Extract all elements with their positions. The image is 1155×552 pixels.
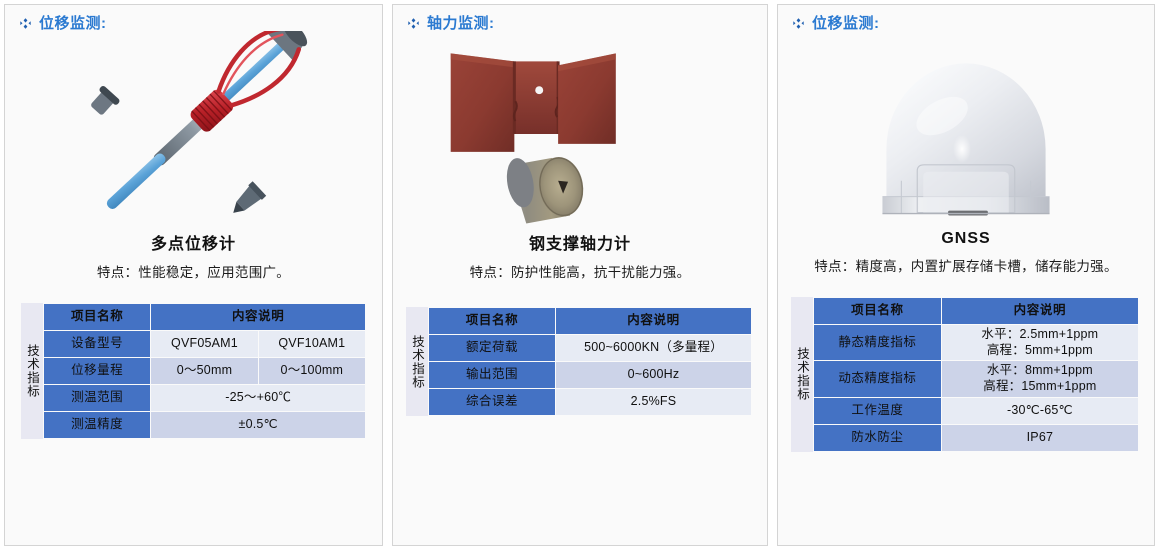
row-value: -30℃-65℃ bbox=[942, 398, 1138, 424]
table-row: 输出范围 0~600Hz bbox=[429, 362, 751, 388]
diamond-bullet-icon bbox=[19, 17, 32, 30]
row-value: 0～100mm bbox=[259, 358, 365, 384]
row-value-line: 高程：15mm+1ppm bbox=[944, 379, 1136, 395]
row-label: 输出范围 bbox=[429, 362, 555, 388]
row-label: 动态精度指标 bbox=[814, 361, 941, 396]
row-value-line: 水平：2.5mm+1ppm bbox=[944, 327, 1136, 343]
table-header-row: 项目名称 内容说明 bbox=[44, 304, 365, 330]
row-value: -25～+60℃ bbox=[151, 385, 365, 411]
row-label: 工作温度 bbox=[814, 398, 941, 424]
product-feature: 特点：精度高，内置扩展存储卡槽，储存能力强。 bbox=[778, 255, 1154, 275]
spec-side-label: 技术指标 bbox=[21, 303, 43, 439]
row-label: 额定荷载 bbox=[429, 335, 555, 361]
row-value-line: 高程：5mm+1ppm bbox=[944, 343, 1136, 359]
device-card-displacement-meter: 位移监测: bbox=[4, 4, 383, 546]
row-label: 设备型号 bbox=[44, 331, 150, 357]
table-row: 动态精度指标 水平：8mm+1ppm 高程：15mm+1ppm bbox=[814, 361, 1138, 396]
col-header-item-name: 项目名称 bbox=[429, 308, 555, 334]
spec-side-label: 技术指标 bbox=[406, 307, 428, 416]
row-value-line: 水平：8mm+1ppm bbox=[944, 363, 1136, 379]
col-header-description: 内容说明 bbox=[556, 308, 751, 334]
card-header-title: 位移监测: bbox=[812, 16, 880, 31]
table-row: 综合误差 2.5%FS bbox=[429, 389, 751, 415]
diamond-bullet-icon bbox=[407, 17, 420, 30]
product-title: GNSS bbox=[778, 230, 1154, 248]
table-row: 额定荷载 500~6000KN（多量程） bbox=[429, 335, 751, 361]
multipoint-displacement-meter-photo bbox=[5, 31, 382, 226]
spec-table: 项目名称 内容说明 静态精度指标 水平：2.5mm+1ppm 高程：5mm+1p… bbox=[813, 297, 1139, 452]
spec-side-label: 技术指标 bbox=[791, 297, 813, 452]
row-value: 水平：8mm+1ppm 高程：15mm+1ppm bbox=[942, 361, 1138, 396]
row-value: QVF05AM1 bbox=[151, 331, 257, 357]
row-label: 综合误差 bbox=[429, 389, 555, 415]
row-label: 测温精度 bbox=[44, 412, 150, 438]
row-value: 水平：2.5mm+1ppm 高程：5mm+1ppm bbox=[942, 325, 1138, 360]
table-row: 测温范围 -25～+60℃ bbox=[44, 385, 365, 411]
row-value: 500~6000KN（多量程） bbox=[556, 335, 751, 361]
table-row: 静态精度指标 水平：2.5mm+1ppm 高程：5mm+1ppm bbox=[814, 325, 1138, 360]
table-row: 测温精度 ±0.5℃ bbox=[44, 412, 365, 438]
row-label: 测温范围 bbox=[44, 385, 150, 411]
card-header: 位移监测: bbox=[5, 5, 382, 31]
card-header: 轴力监测: bbox=[393, 5, 767, 31]
row-label: 防水防尘 bbox=[814, 425, 941, 451]
product-feature: 特点：防护性能高，抗干扰能力强。 bbox=[393, 261, 767, 281]
product-title: 多点位移计 bbox=[5, 230, 382, 254]
device-card-gnss: 位移监测: bbox=[777, 4, 1155, 546]
card-header: 位移监测: bbox=[778, 5, 1154, 31]
card-header-title: 轴力监测: bbox=[427, 16, 495, 31]
row-value: ±0.5℃ bbox=[151, 412, 365, 438]
col-header-item-name: 项目名称 bbox=[44, 304, 150, 330]
table-row: 位移量程 0～50mm 0～100mm bbox=[44, 358, 365, 384]
col-header-description: 内容说明 bbox=[942, 298, 1138, 324]
row-value: IP67 bbox=[942, 425, 1138, 451]
spec-table-wrapper: 技术指标 项目名称 内容说明 静态精度指标 水平：2.5mm+1ppm 高程：5… bbox=[791, 297, 1139, 452]
row-value: 0~600Hz bbox=[556, 362, 751, 388]
product-title: 钢支撑轴力计 bbox=[393, 230, 767, 254]
product-feature: 特点：性能稳定，应用范围广。 bbox=[5, 261, 382, 281]
table-row: 工作温度 -30℃-65℃ bbox=[814, 398, 1138, 424]
row-label: 位移量程 bbox=[44, 358, 150, 384]
col-header-item-name: 项目名称 bbox=[814, 298, 941, 324]
spec-table-wrapper: 技术指标 项目名称 内容说明 额定荷载 500~6000KN（多量程） 输出范围… bbox=[406, 307, 752, 416]
spec-table-wrapper: 技术指标 项目名称 内容说明 设备型号 QVF05AM1 QVF10AM1 位移… bbox=[21, 303, 366, 439]
gnss-dome-antenna-photo bbox=[778, 31, 1154, 226]
spec-table: 项目名称 内容说明 设备型号 QVF05AM1 QVF10AM1 位移量程 0～… bbox=[43, 303, 366, 439]
row-value: 2.5%FS bbox=[556, 389, 751, 415]
table-header-row: 项目名称 内容说明 bbox=[814, 298, 1138, 324]
device-spec-board: 位移监测: bbox=[0, 0, 1155, 552]
diamond-bullet-icon bbox=[792, 17, 805, 30]
spec-table: 项目名称 内容说明 额定荷载 500~6000KN（多量程） 输出范围 0~60… bbox=[428, 307, 752, 416]
row-value: QVF10AM1 bbox=[259, 331, 365, 357]
col-header-description: 内容说明 bbox=[151, 304, 365, 330]
device-card-axial-force-meter: 轴力监测: bbox=[392, 4, 768, 546]
table-header-row: 项目名称 内容说明 bbox=[429, 308, 751, 334]
table-row: 设备型号 QVF05AM1 QVF10AM1 bbox=[44, 331, 365, 357]
steel-strut-axial-force-meter-photo bbox=[393, 31, 767, 226]
row-label: 静态精度指标 bbox=[814, 325, 941, 360]
card-header-title: 位移监测: bbox=[39, 16, 107, 31]
table-row: 防水防尘 IP67 bbox=[814, 425, 1138, 451]
row-value: 0～50mm bbox=[151, 358, 257, 384]
